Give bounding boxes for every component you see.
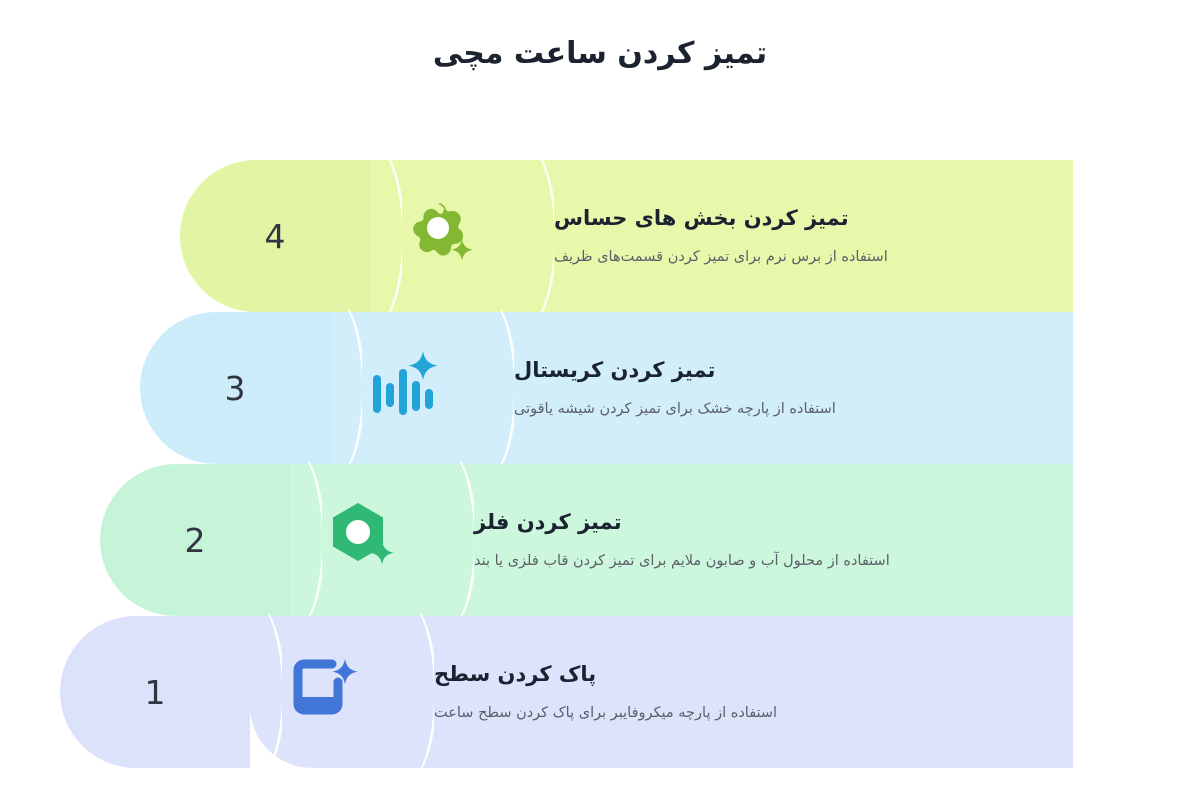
step-number: 4 xyxy=(265,220,286,253)
step-subtitle: استفاده از پارچه میکروفایبر برای پاک کرد… xyxy=(434,703,777,723)
step-title: تمیز کردن فلز xyxy=(474,509,622,536)
hexagon-sparkle-icon xyxy=(325,499,407,581)
step-subtitle: استفاده از پارچه خشک برای تمیز کردن شیشه… xyxy=(514,399,836,419)
step-subtitle: استفاده از محلول آب و صابون ملایم برای ت… xyxy=(474,551,890,571)
steps-list: 4 تمیز کردن بخش های حساس استفاده از برس … xyxy=(0,160,1200,770)
step-card-1-icon-zone xyxy=(250,616,402,768)
step-card-2-number-pill: 2 xyxy=(100,464,290,616)
step-card-1-number-pill: 1 xyxy=(60,616,250,768)
step-title: تمیز کردن بخش های حساس xyxy=(554,205,849,232)
step-card-4[interactable]: 4 تمیز کردن بخش های حساس استفاده از برس … xyxy=(370,160,1073,312)
step-card-2[interactable]: 2 تمیز کردن فلز استفاده از محلول آب و صا… xyxy=(290,464,1073,616)
step-card-3-text: تمیز کردن کریستال استفاده از پارچه خشک ب… xyxy=(514,312,1073,464)
step-title: پاک کردن سطح xyxy=(434,661,596,688)
step-number: 1 xyxy=(145,676,166,709)
step-card-2-text: تمیز کردن فلز استفاده از محلول آب و صابو… xyxy=(474,464,1073,616)
bars-sparkle-icon xyxy=(365,347,447,429)
step-card-3-icon-zone xyxy=(330,312,482,464)
step-card-1[interactable]: 1 پاک کردن سطح استفاده از پارچه میکروفای… xyxy=(250,616,1073,768)
step-card-4-text: تمیز کردن بخش های حساس استفاده از برس نر… xyxy=(554,160,1073,312)
step-card-4-number-pill: 4 xyxy=(180,160,370,312)
gear-sparkle-icon xyxy=(405,195,487,277)
step-card-3-number-pill: 3 xyxy=(140,312,330,464)
step-card-4-icon-zone xyxy=(370,160,522,312)
step-number: 3 xyxy=(225,372,246,405)
cloth-square-sparkle-icon xyxy=(285,651,367,733)
step-title: تمیز کردن کریستال xyxy=(514,357,715,384)
step-subtitle: استفاده از برس نرم برای تمیز کردن قسمت‌ه… xyxy=(554,247,888,267)
step-card-1-text: پاک کردن سطح استفاده از پارچه میکروفایبر… xyxy=(434,616,1073,768)
page-title: تمیز کردن ساعت مچی xyxy=(0,36,1200,71)
step-number: 2 xyxy=(185,524,206,557)
step-card-2-icon-zone xyxy=(290,464,442,616)
step-card-3[interactable]: 3 تمیز کردن کریستال اس xyxy=(330,312,1073,464)
